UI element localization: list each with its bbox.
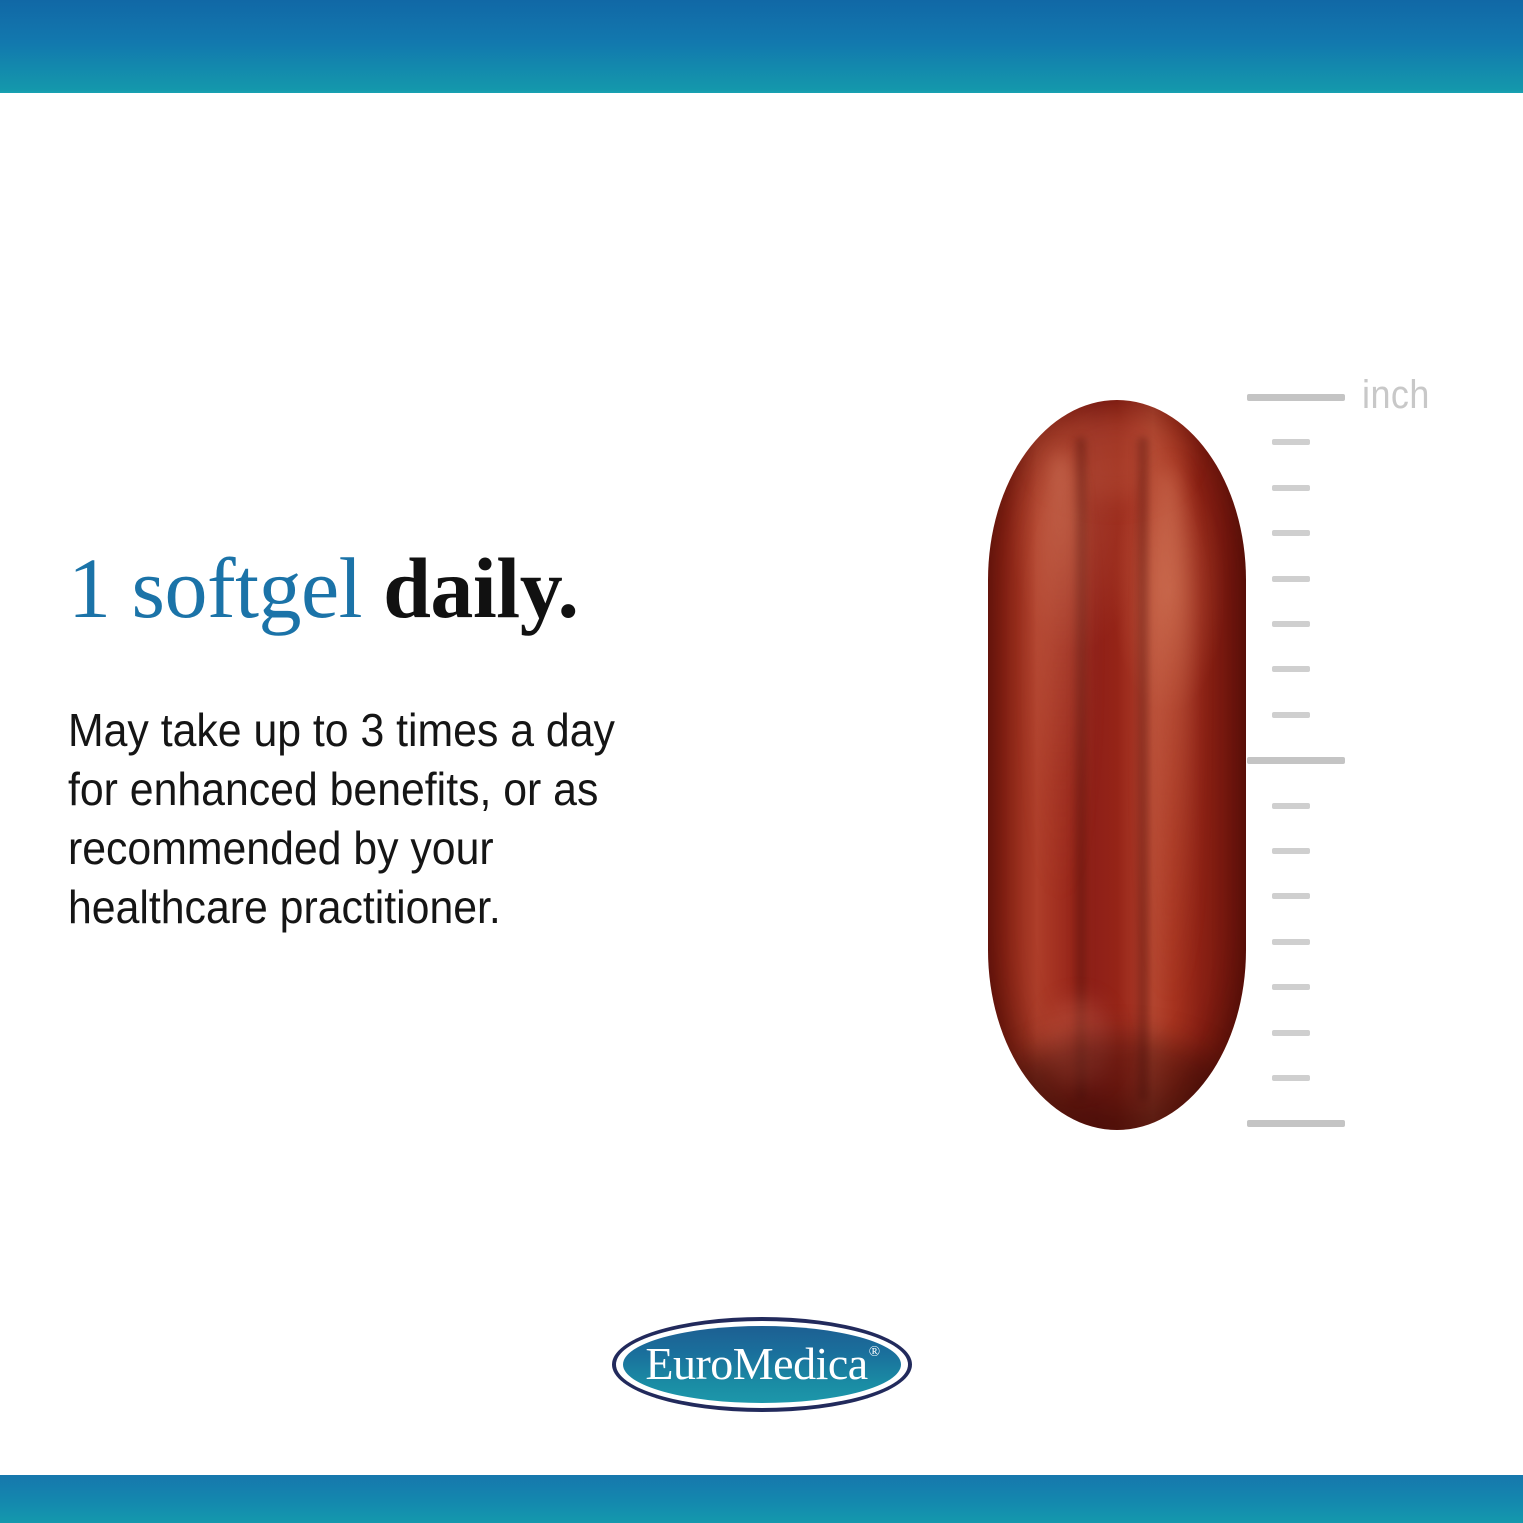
ruler-major-tick	[1247, 394, 1345, 401]
headline-accent: 1 softgel	[68, 540, 362, 636]
page-title: 1 softgel daily.	[68, 545, 828, 631]
inch-ruler: inch	[1240, 380, 1500, 1150]
ruler-minor-tick	[1272, 530, 1310, 536]
dosage-description: May take up to 3 times a day for enhance…	[68, 631, 775, 937]
capsule-base-shadow	[1003, 1035, 1230, 1130]
ruler-minor-tick	[1272, 621, 1310, 627]
ruler-minor-tick	[1272, 939, 1310, 945]
copy-block: 1 softgel daily. May take up to 3 times …	[68, 545, 828, 937]
ruler-minor-tick	[1272, 666, 1310, 672]
headline-main: daily.	[362, 540, 578, 636]
top-brand-band	[0, 0, 1523, 93]
ruler-major-tick	[1247, 1120, 1345, 1127]
softgel-capsule-body	[988, 400, 1246, 1130]
logo-brand-text: EuroMedica	[645, 1338, 867, 1389]
ruler-minor-tick	[1272, 712, 1310, 718]
ruler-minor-tick	[1272, 439, 1310, 445]
softgel-capsule-image	[988, 400, 1246, 1130]
ruler-minor-tick	[1272, 848, 1310, 854]
ruler-minor-tick	[1272, 485, 1310, 491]
ruler-minor-tick	[1272, 893, 1310, 899]
ruler-minor-tick	[1272, 576, 1310, 582]
ruler-major-tick	[1247, 757, 1345, 764]
logo-wordmark: EuroMedica®	[645, 1341, 878, 1387]
ruler-minor-tick	[1272, 803, 1310, 809]
ruler-unit-label: inch	[1362, 375, 1430, 415]
capsule-highlight-right	[1148, 466, 1192, 1006]
ruler-minor-tick	[1272, 1075, 1310, 1081]
euromedica-logo[interactable]: EuroMedica®	[612, 1317, 912, 1412]
ruler-minor-tick	[1272, 984, 1310, 990]
bottom-brand-band	[0, 1475, 1523, 1523]
logo-inner-oval: EuroMedica®	[623, 1326, 901, 1403]
ruler-minor-tick	[1272, 1030, 1310, 1036]
capsule-highlight-left	[1034, 451, 1086, 904]
registered-trademark-icon: ®	[869, 1344, 880, 1360]
